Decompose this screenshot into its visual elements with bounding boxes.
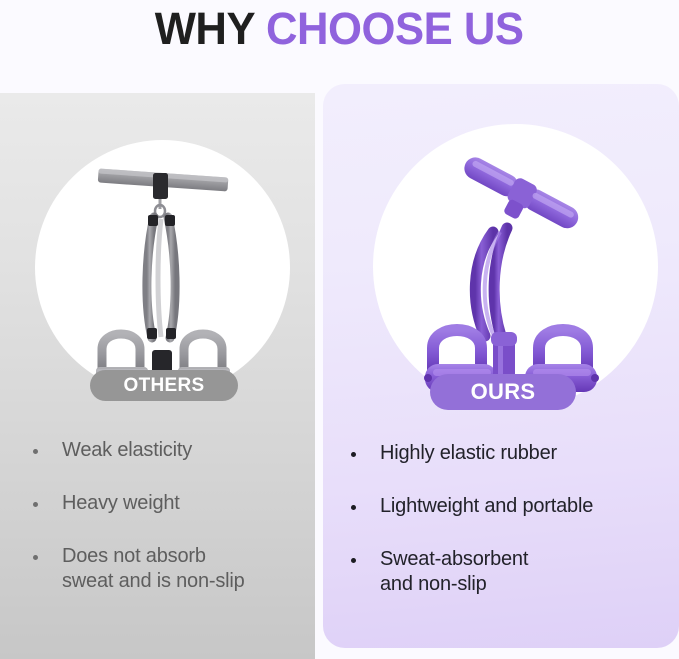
- list-item-label: Lightweight and portable: [380, 494, 593, 519]
- title-word-why: WHY: [155, 3, 266, 54]
- bullet-dot-icon: [33, 555, 38, 560]
- list-item-label-line1: Does not absorb: [62, 545, 206, 567]
- list-item: Weak elasticity: [33, 438, 303, 463]
- feature-list-others: Weak elasticity Heavy weight Does not ab…: [33, 438, 303, 622]
- list-item: Sweat-absorbentand non-slip: [351, 547, 671, 597]
- list-item-label: Heavy weight: [62, 491, 180, 516]
- badge-ours-label: OURS: [471, 379, 536, 405]
- list-item-label: Sweat-absorbentand non-slip: [380, 547, 528, 597]
- feature-list-ours: Highly elastic rubber Lightweight and po…: [351, 441, 671, 625]
- list-item-label-line1: Sweat-absorbent: [380, 548, 528, 570]
- title-words-choose-us: CHOOSE US: [266, 3, 524, 54]
- list-item: Highly elastic rubber: [351, 441, 671, 466]
- list-item-label: Highly elastic rubber: [380, 441, 557, 466]
- product-image-others: [78, 153, 248, 398]
- list-item-label-line2: sweat and is non-slip: [62, 570, 245, 592]
- list-item: Lightweight and portable: [351, 494, 671, 519]
- list-item-label: Weak elasticity: [62, 438, 192, 463]
- bullet-dot-icon: [351, 558, 356, 563]
- bullet-dot-icon: [33, 449, 38, 454]
- panel-others: OTHERS Weak elasticity Heavy weight Does…: [0, 93, 315, 659]
- bullet-dot-icon: [351, 505, 356, 510]
- panel-ours: OURS Highly elastic rubber Lightweight a…: [323, 84, 679, 648]
- infographic-root: WHY CHOOSE US: [0, 0, 679, 659]
- header-bar: WHY CHOOSE US: [0, 0, 679, 93]
- list-item-label-line2: and non-slip: [380, 573, 487, 595]
- badge-others: OTHERS: [90, 370, 238, 401]
- list-item: Does not absorbsweat and is non-slip: [33, 544, 303, 594]
- product-image-ours: [415, 136, 620, 411]
- badge-ours: OURS: [430, 374, 576, 410]
- bullet-dot-icon: [351, 452, 356, 457]
- list-item-label: Does not absorbsweat and is non-slip: [62, 544, 245, 594]
- list-item: Heavy weight: [33, 491, 303, 516]
- page-title: WHY CHOOSE US: [155, 3, 524, 55]
- badge-others-label: OTHERS: [124, 375, 205, 397]
- bullet-dot-icon: [33, 502, 38, 507]
